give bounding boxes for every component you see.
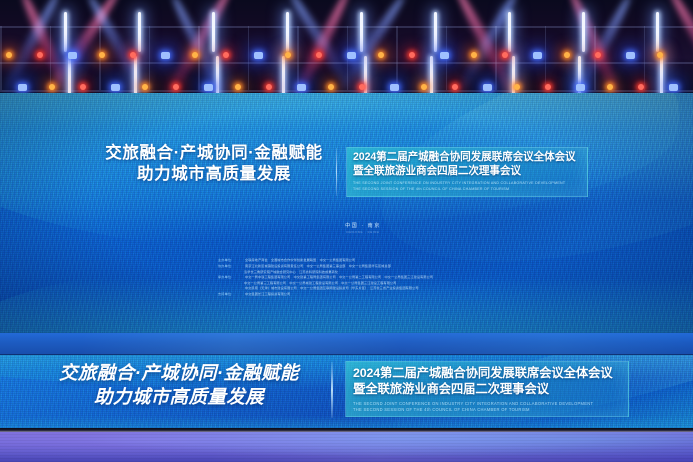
led-tube-upper bbox=[434, 12, 437, 52]
city-name-en: NANJING · CHINA bbox=[330, 231, 396, 234]
amber-lamp bbox=[471, 52, 477, 58]
wash-light bbox=[533, 52, 542, 59]
led-tube-lower bbox=[282, 56, 285, 94]
red-lamp bbox=[80, 84, 86, 90]
amber-lamp bbox=[285, 52, 291, 58]
led-tube-upper bbox=[212, 12, 215, 52]
truss-post bbox=[545, 26, 547, 90]
led-tube-lower bbox=[216, 56, 219, 94]
truss-post bbox=[495, 26, 497, 90]
red-lamp bbox=[545, 84, 551, 90]
banner-title-cn-line1: 2024第二届产城融合协同发展联席会议全体会议 bbox=[353, 365, 623, 381]
banner-headline-line2: 助力城市高质量发展 bbox=[44, 385, 314, 409]
credit-row: 主办单位:全联房地产商会 全国城市合作伙伴创新发展联盟 中交一公局集团有限公司 bbox=[218, 258, 508, 263]
floor-grain bbox=[0, 428, 693, 462]
lighting-truss bbox=[0, 0, 693, 96]
screen-title-en-line2: THE SECOND SESSION OF THE 4th COUNCIL OF… bbox=[353, 187, 582, 193]
truss-post bbox=[644, 26, 646, 90]
screen-headline: 交旅融合·产城协同·金融赋能 助力城市高质量发展 bbox=[98, 143, 330, 186]
red-lamp bbox=[595, 52, 601, 58]
credit-value: 中交一局中铁工程集团有限公司 中交建第工程局集团有限公司 中交一公局第二工程有限… bbox=[245, 275, 508, 280]
led-tube-lower bbox=[134, 56, 137, 94]
credit-label bbox=[218, 286, 240, 291]
red-lamp bbox=[316, 52, 322, 58]
stage-deck bbox=[0, 333, 693, 355]
wash-light bbox=[297, 84, 306, 91]
amber-lamp bbox=[235, 84, 241, 90]
credit-label: 承办单位: bbox=[218, 275, 240, 280]
amber-lamp bbox=[142, 84, 148, 90]
wash-light bbox=[390, 84, 399, 91]
truss-post bbox=[297, 26, 299, 90]
led-tube-lower bbox=[660, 56, 663, 94]
led-tube-upper bbox=[582, 12, 585, 52]
wash-light bbox=[669, 84, 678, 91]
truss-post bbox=[594, 26, 596, 90]
conference-stage-scene: 交旅融合·产城协同·金融赋能 助力城市高质量发展 2024第二届产城融合协同发展… bbox=[0, 0, 693, 462]
credit-row: 承办单位:中交一局中铁工程集团有限公司 中交建第工程局集团有限公司 中交一公局第… bbox=[218, 275, 508, 280]
screen-headline-divider bbox=[336, 148, 337, 196]
banner-title-cn-line2: 暨全联旅游业商会四届二次理事会议 bbox=[353, 381, 623, 397]
amber-lamp bbox=[192, 52, 198, 58]
truss-post bbox=[99, 26, 101, 90]
venue-floor bbox=[0, 428, 693, 462]
led-tube-upper bbox=[64, 12, 67, 52]
red-lamp bbox=[409, 52, 415, 58]
banner-title-en-line2: THE SECOND SESSION OF THE 4th COUNCIL OF… bbox=[353, 407, 623, 414]
banner-title-panel: 2024第二届产城融合协同发展联席会议全体会议 暨全联旅游业商会四届二次理事会议… bbox=[345, 361, 629, 417]
credit-value: 中交集团长江工程投资有限公司 bbox=[245, 292, 508, 297]
amber-lamp bbox=[378, 52, 384, 58]
wash-light bbox=[18, 84, 27, 91]
screen-title-en-line1: THE SECOND JOINT CONFERENCE ON INDUSTRY … bbox=[353, 181, 582, 187]
amber-lamp bbox=[99, 52, 105, 58]
red-lamp bbox=[638, 84, 644, 90]
led-tube-upper bbox=[286, 12, 289, 52]
banner-headline-divider bbox=[331, 362, 333, 418]
wash-light bbox=[161, 52, 170, 59]
wash-light bbox=[576, 84, 585, 91]
amber-lamp bbox=[6, 52, 12, 58]
truss-post bbox=[396, 26, 398, 90]
red-lamp bbox=[502, 52, 508, 58]
city-name-cn: 中国 · 南京 bbox=[330, 222, 396, 229]
truss-post bbox=[248, 26, 250, 90]
wash-light bbox=[254, 52, 263, 59]
credit-row: 支持单位:中交集团长江工程投资有限公司 bbox=[218, 292, 508, 297]
red-lamp bbox=[266, 84, 272, 90]
amber-lamp bbox=[328, 84, 334, 90]
red-lamp bbox=[130, 52, 136, 58]
amber-lamp bbox=[657, 52, 663, 58]
red-lamp bbox=[173, 84, 179, 90]
amber-lamp bbox=[564, 52, 570, 58]
credit-value: 全联房地产商会 全国城市合作伙伴创新发展联盟 中交一公局集团有限公司 bbox=[245, 258, 508, 263]
truss-post bbox=[149, 26, 151, 90]
truss-post bbox=[0, 26, 2, 90]
wash-light bbox=[111, 84, 120, 91]
deck-sheen bbox=[0, 333, 693, 355]
screen-headline-line1: 交旅融合·产城协同·金融赋能 bbox=[98, 143, 330, 164]
banner-headline: 交旅融合·产城协同·金融赋能 助力城市高质量发展 bbox=[44, 361, 314, 410]
organizer-credits: 主办单位:全联房地产商会 全国城市合作伙伴创新发展联盟 中交一公局集团有限公司协… bbox=[218, 258, 508, 298]
amber-lamp bbox=[421, 84, 427, 90]
led-tube-lower bbox=[68, 56, 71, 94]
truss-rail-bottom bbox=[0, 90, 693, 92]
screen-headline-line2: 助力城市高质量发展 bbox=[98, 164, 330, 185]
screen-title-cn-line2: 暨全联旅游业商会四届二次理事会议 bbox=[353, 165, 582, 179]
truss-post bbox=[50, 26, 52, 90]
amber-lamp bbox=[514, 84, 520, 90]
screen-title-cn-line1: 2024第二届产城融合协同发展联席会议全体会议 bbox=[353, 151, 582, 165]
credit-row: 协办单位:南京江北新区城镇建设投资有限责任公司 中交一公局集团第三事业部 中交一… bbox=[218, 264, 508, 269]
credit-label: 主办单位: bbox=[218, 258, 240, 263]
wash-light bbox=[626, 52, 635, 59]
credit-row: 中交民南（天津）城市建设有限公司 中交一公局集团互联网建设投资司（华东片区） 江… bbox=[218, 286, 508, 291]
wash-light bbox=[204, 84, 213, 91]
led-tube-lower bbox=[430, 56, 433, 94]
red-lamp bbox=[37, 52, 43, 58]
credit-value: 南京江北新区城镇建设投资有限责任公司 中交一公局集团第三事业部 中交一公局集团华… bbox=[245, 264, 508, 269]
credit-value: 中交民南（天津）城市建设有限公司 中交一公局集团互联网建设投资司（华东片区） 江… bbox=[245, 286, 508, 291]
credit-label: 协办单位: bbox=[218, 264, 240, 269]
wash-light bbox=[68, 52, 77, 59]
wash-light bbox=[347, 52, 356, 59]
red-lamp bbox=[452, 84, 458, 90]
amber-lamp bbox=[607, 84, 613, 90]
led-tube-upper bbox=[138, 12, 141, 52]
led-tube-upper bbox=[656, 12, 659, 52]
banner-headline-line1: 交旅融合·产城协同·金融赋能 bbox=[44, 361, 314, 385]
wash-light bbox=[440, 52, 449, 59]
truss-post bbox=[198, 26, 200, 90]
wash-light bbox=[483, 84, 492, 91]
red-lamp bbox=[359, 84, 365, 90]
credit-label: 支持单位: bbox=[218, 292, 240, 297]
led-tube-upper bbox=[360, 12, 363, 52]
led-tube-upper bbox=[508, 12, 511, 52]
screen-title-panel: 2024第二届产城融合协同发展联席会议全体会议 暨全联旅游业商会四届二次理事会议… bbox=[346, 147, 588, 197]
red-lamp bbox=[223, 52, 229, 58]
screen-city-line: 中国 · 南京 NANJING · CHINA bbox=[330, 222, 396, 234]
amber-lamp bbox=[49, 84, 55, 90]
